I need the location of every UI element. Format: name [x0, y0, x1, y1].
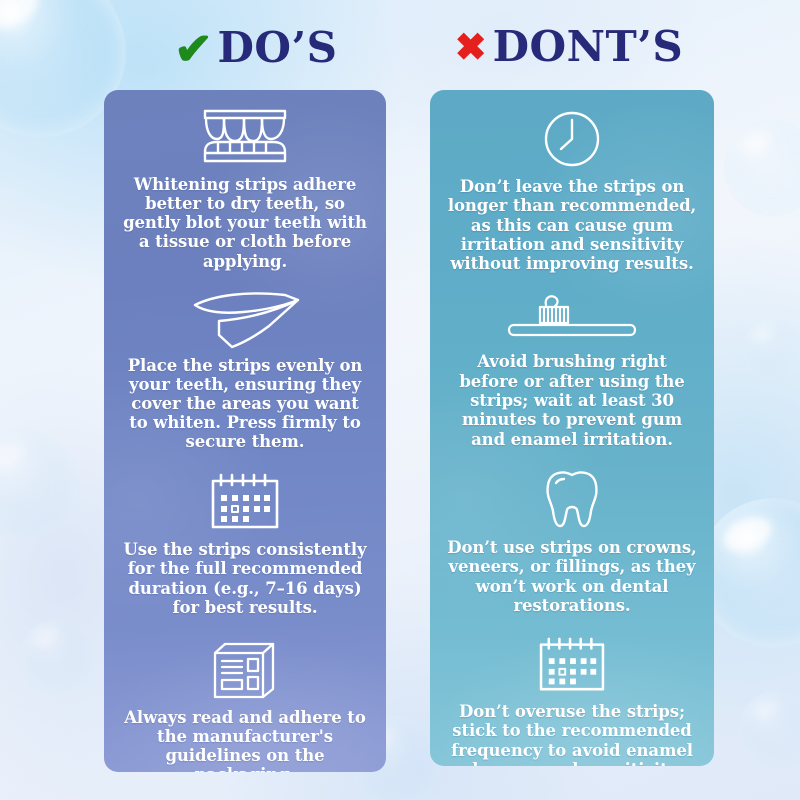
list-item-text: Don’t leave the strips on longer than re…	[446, 177, 698, 273]
list-item: Use the strips consistently for the full…	[120, 471, 370, 617]
list-item-text: Don’t use strips on crowns, veneers, or …	[446, 538, 698, 615]
calendar-icon	[120, 471, 370, 533]
list-item: Always read and adhere to the manufactur…	[120, 639, 370, 772]
product-box-icon	[120, 639, 370, 701]
list-item-text: Place the strips evenly on your teeth, e…	[120, 356, 370, 452]
list-item: Avoid brushing right before or after usi…	[446, 293, 698, 448]
toothbrush-icon	[446, 293, 698, 345]
whitening-strip-icon	[120, 291, 370, 349]
teeth-icon	[120, 106, 370, 168]
donts-panel: Don’t leave the strips on longer than re…	[430, 90, 714, 766]
list-item: Don’t leave the strips on longer than re…	[446, 108, 698, 273]
dos-title: DO’S	[217, 27, 337, 69]
bubble-decoration	[742, 318, 800, 380]
header: ✔ DO’S ✖ DONT’S	[0, 0, 800, 92]
list-item: Whitening strips adhere better to dry te…	[120, 106, 370, 271]
list-item-text: Always read and adhere to the manufactur…	[120, 708, 370, 772]
clock-icon	[446, 108, 698, 170]
calendar-icon	[446, 635, 698, 695]
list-item-text: Avoid brushing right before or after usi…	[446, 352, 698, 448]
list-item: Don’t overuse the strips; stick to the r…	[446, 635, 698, 766]
donts-header: ✖ DONT’S	[424, 26, 714, 68]
list-item-text: Use the strips consistently for the full…	[120, 540, 370, 617]
list-item-text: Whitening strips adhere better to dry te…	[120, 175, 370, 271]
list-item: Don’t use strips on crowns, veneers, or …	[446, 469, 698, 615]
bubble-decoration	[20, 618, 98, 696]
check-mark-icon: ✔	[174, 28, 213, 72]
donts-title: DONT’S	[493, 26, 684, 68]
dos-header: ✔ DO’S	[104, 26, 408, 70]
cross-mark-icon: ✖	[455, 28, 487, 66]
tooth-icon	[446, 469, 698, 531]
dos-panel: Whitening strips adhere better to dry te…	[104, 90, 386, 772]
list-item-text: Don’t overuse the strips; stick to the r…	[446, 702, 698, 766]
list-item: Place the strips evenly on your teeth, e…	[120, 291, 370, 452]
